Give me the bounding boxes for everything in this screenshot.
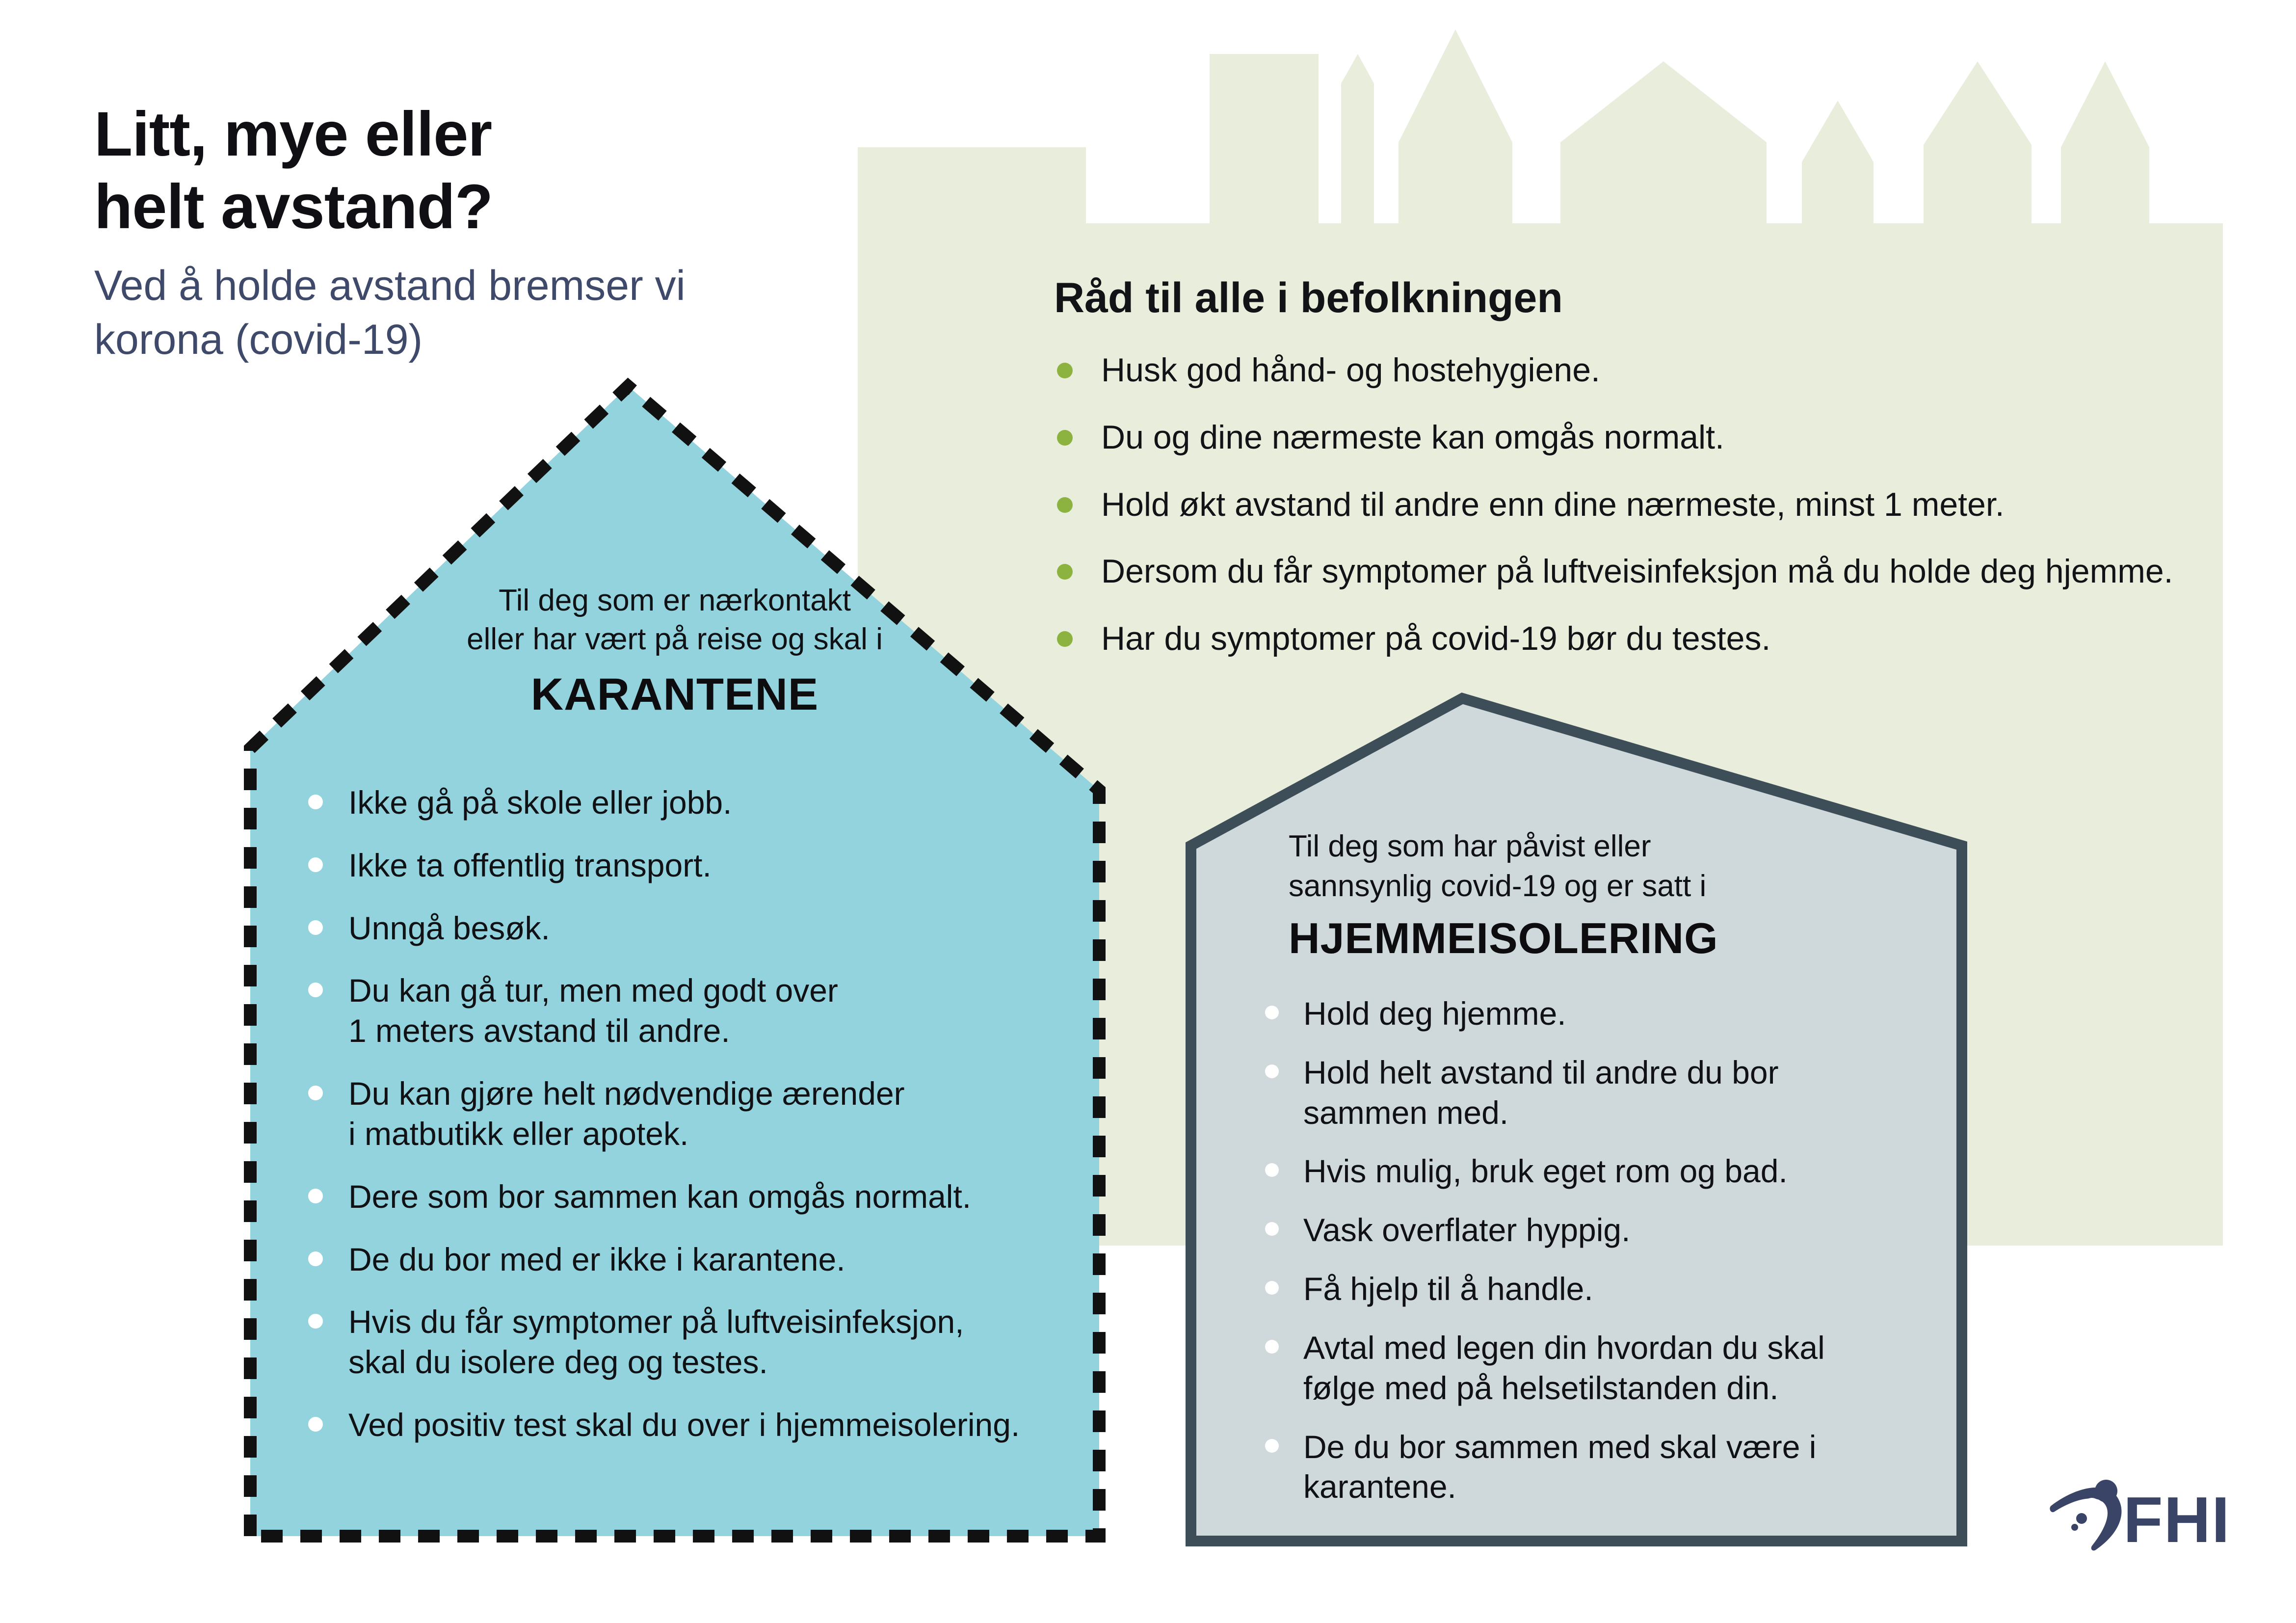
isolation-list: Hold deg hjemme. Hold helt avstand til a… — [1256, 994, 1845, 1526]
list-item: Hold deg hjemme. — [1256, 994, 1845, 1034]
bullet-dot-icon — [1265, 1222, 1279, 1236]
bullet-dot-icon — [308, 1189, 323, 1203]
list-item: Har du symptomer på covid-19 bør du test… — [1054, 618, 2183, 659]
list-item-label: Ikke gå på skole eller jobb. — [348, 784, 732, 821]
bullet-dot-icon — [308, 1086, 323, 1100]
list-item-label: Dersom du får symptomer på luftveisinfek… — [1101, 553, 2173, 590]
quarantine-list: Ikke gå på skole eller jobb. Ikke ta off… — [299, 783, 1075, 1468]
isolation-intro: Til deg som har påvist eller sannsynlig … — [1289, 827, 1897, 961]
bullet-dot-icon — [308, 857, 323, 872]
list-item: Hold økt avstand til andre enn dine nærm… — [1054, 484, 2183, 525]
list-item: Du kan gå tur, men med godt over1 meters… — [299, 971, 1075, 1051]
quarantine-intro-line-2: eller har vært på reise og skal i — [231, 620, 1119, 659]
quarantine-intro: Til deg som er nærkontakt eller har vært… — [231, 582, 1119, 719]
list-item-label: Hold deg hjemme. — [1303, 995, 1566, 1032]
poster-canvas: Litt, mye eller helt avstand? Ved å hold… — [0, 0, 2296, 1623]
fhi-logo-dot-medium — [2076, 1513, 2087, 1524]
list-item-label: Du og dine nærmeste kan omgås normalt. — [1101, 419, 1724, 456]
list-item-label: Hold helt avstand til andre du borsammen… — [1303, 1054, 1779, 1131]
list-item-label: Unngå besøk. — [348, 910, 550, 946]
bullet-dot-icon — [1265, 1006, 1279, 1019]
bullet-dot-icon — [1265, 1439, 1279, 1453]
list-item: Du kan gjøre helt nødvendige ærenderi ma… — [299, 1074, 1075, 1154]
list-item: Ikke ta offentlig transport. — [299, 846, 1075, 886]
list-item: Få hjelp til å handle. — [1256, 1269, 1845, 1309]
bullet-dot-icon — [308, 1251, 323, 1266]
list-item: Avtal med legen din hvordan du skalfølge… — [1256, 1328, 1845, 1409]
isolation-house-card: Til deg som har påvist eller sannsynlig … — [1178, 690, 1975, 1553]
list-item-label: Hold økt avstand til andre enn dine nærm… — [1101, 486, 2005, 523]
general-advice-list: Husk god hånd- og hostehygiene. Du og di… — [1054, 350, 2183, 660]
bullet-dot-icon — [308, 920, 323, 935]
quarantine-house-card: Til deg som er nærkontakt eller har vært… — [231, 368, 1119, 1556]
list-item: Hvis du får symptomer på luftveisinfeksj… — [299, 1302, 1075, 1383]
fhi-logo-mark — [2050, 1480, 2121, 1550]
list-item-label: Hvis du får symptomer på luftveisinfeksj… — [348, 1304, 964, 1380]
general-advice-heading: Råd til alle i befolkningen — [1054, 275, 2183, 321]
page-subtitle-line-1: Ved å holde avstand bremser vi — [94, 262, 686, 309]
list-item-label: Ikke ta offentlig transport. — [348, 847, 712, 883]
fhi-logo: FHI — [2049, 1467, 2240, 1556]
quarantine-title: KARANTENE — [231, 670, 1119, 719]
bullet-dot-icon — [1265, 1163, 1279, 1177]
bullet-dot-icon — [1265, 1340, 1279, 1354]
quarantine-intro-line-1: Til deg som er nærkontakt — [231, 582, 1119, 620]
isolation-house-content: Til deg som har påvist eller sannsynlig … — [1178, 690, 1975, 1553]
page-title-line-2: helt avstand? — [94, 172, 493, 242]
quarantine-house-content: Til deg som er nærkontakt eller har vært… — [231, 368, 1119, 1556]
bullet-dot-icon — [308, 795, 323, 809]
bullet-dot-icon — [308, 1314, 323, 1329]
isolation-title: HJEMMEISOLERING — [1289, 915, 1897, 961]
list-item: Vask overflater hyppig. — [1256, 1210, 1845, 1251]
bullet-dot-icon — [308, 1417, 323, 1432]
list-item: De du bor sammen med skal være ikaranten… — [1256, 1427, 1845, 1508]
list-item-label: Du kan gjøre helt nødvendige ærenderi ma… — [348, 1075, 905, 1152]
list-item-label: Husk god hånd- og hostehygiene. — [1101, 351, 1600, 389]
fhi-logo-dot-small — [2071, 1524, 2078, 1531]
fhi-logo-dot-large — [2095, 1480, 2117, 1502]
page-subtitle: Ved å holde avstand bremser vi korona (c… — [94, 259, 830, 367]
page-subtitle-line-2: korona (covid-19) — [94, 316, 422, 363]
list-item: Dere som bor sammen kan omgås normalt. — [299, 1177, 1075, 1217]
headline-block: Litt, mye eller helt avstand? Ved å hold… — [94, 98, 830, 367]
list-item: Husk god hånd- og hostehygiene. — [1054, 350, 2183, 391]
list-item-label: De du bor med er ikke i karantene. — [348, 1241, 845, 1277]
list-item: Hvis mulig, bruk eget rom og bad. — [1256, 1151, 1845, 1192]
bullet-dot-icon — [1265, 1281, 1279, 1295]
bullet-dot-icon — [1265, 1064, 1279, 1078]
list-item-label: Ved positiv test skal du over i hjemmeis… — [348, 1407, 1020, 1443]
list-item: Dersom du får symptomer på luftveisinfek… — [1054, 551, 2183, 592]
list-item-label: Har du symptomer på covid-19 bør du test… — [1101, 620, 1770, 657]
list-item-label: Du kan gå tur, men med godt over1 meters… — [348, 972, 838, 1049]
isolation-intro-line-1: Til deg som har påvist eller — [1289, 827, 1897, 867]
list-item: De du bor med er ikke i karantene. — [299, 1240, 1075, 1280]
list-item: Ved positiv test skal du over i hjemmeis… — [299, 1405, 1075, 1445]
list-item-label: Få hjelp til å handle. — [1303, 1271, 1593, 1307]
bullet-dot-icon — [308, 983, 323, 997]
list-item: Ikke gå på skole eller jobb. — [299, 783, 1075, 823]
fhi-logo-dot-white — [2083, 1498, 2101, 1516]
fhi-logo-wordmark: FHI — [2123, 1484, 2231, 1556]
page-title: Litt, mye eller helt avstand? — [94, 98, 830, 244]
list-item-label: De du bor sammen med skal være ikaranten… — [1303, 1429, 1816, 1505]
list-item-label: Vask overflater hyppig. — [1303, 1212, 1630, 1248]
list-item: Du og dine nærmeste kan omgås normalt. — [1054, 417, 2183, 458]
list-item: Unngå besøk. — [299, 908, 1075, 949]
general-advice-panel: Råd til alle i befolkningen Husk god hån… — [1054, 275, 2183, 659]
isolation-intro-line-2: sannsynlig covid-19 og er satt i — [1289, 867, 1897, 906]
list-item-label: Dere som bor sammen kan omgås normalt. — [348, 1178, 971, 1215]
list-item-label: Hvis mulig, bruk eget rom og bad. — [1303, 1153, 1788, 1189]
list-item-label: Avtal med legen din hvordan du skalfølge… — [1303, 1330, 1825, 1406]
page-title-line-1: Litt, mye eller — [94, 99, 492, 169]
list-item: Hold helt avstand til andre du borsammen… — [1256, 1053, 1845, 1133]
